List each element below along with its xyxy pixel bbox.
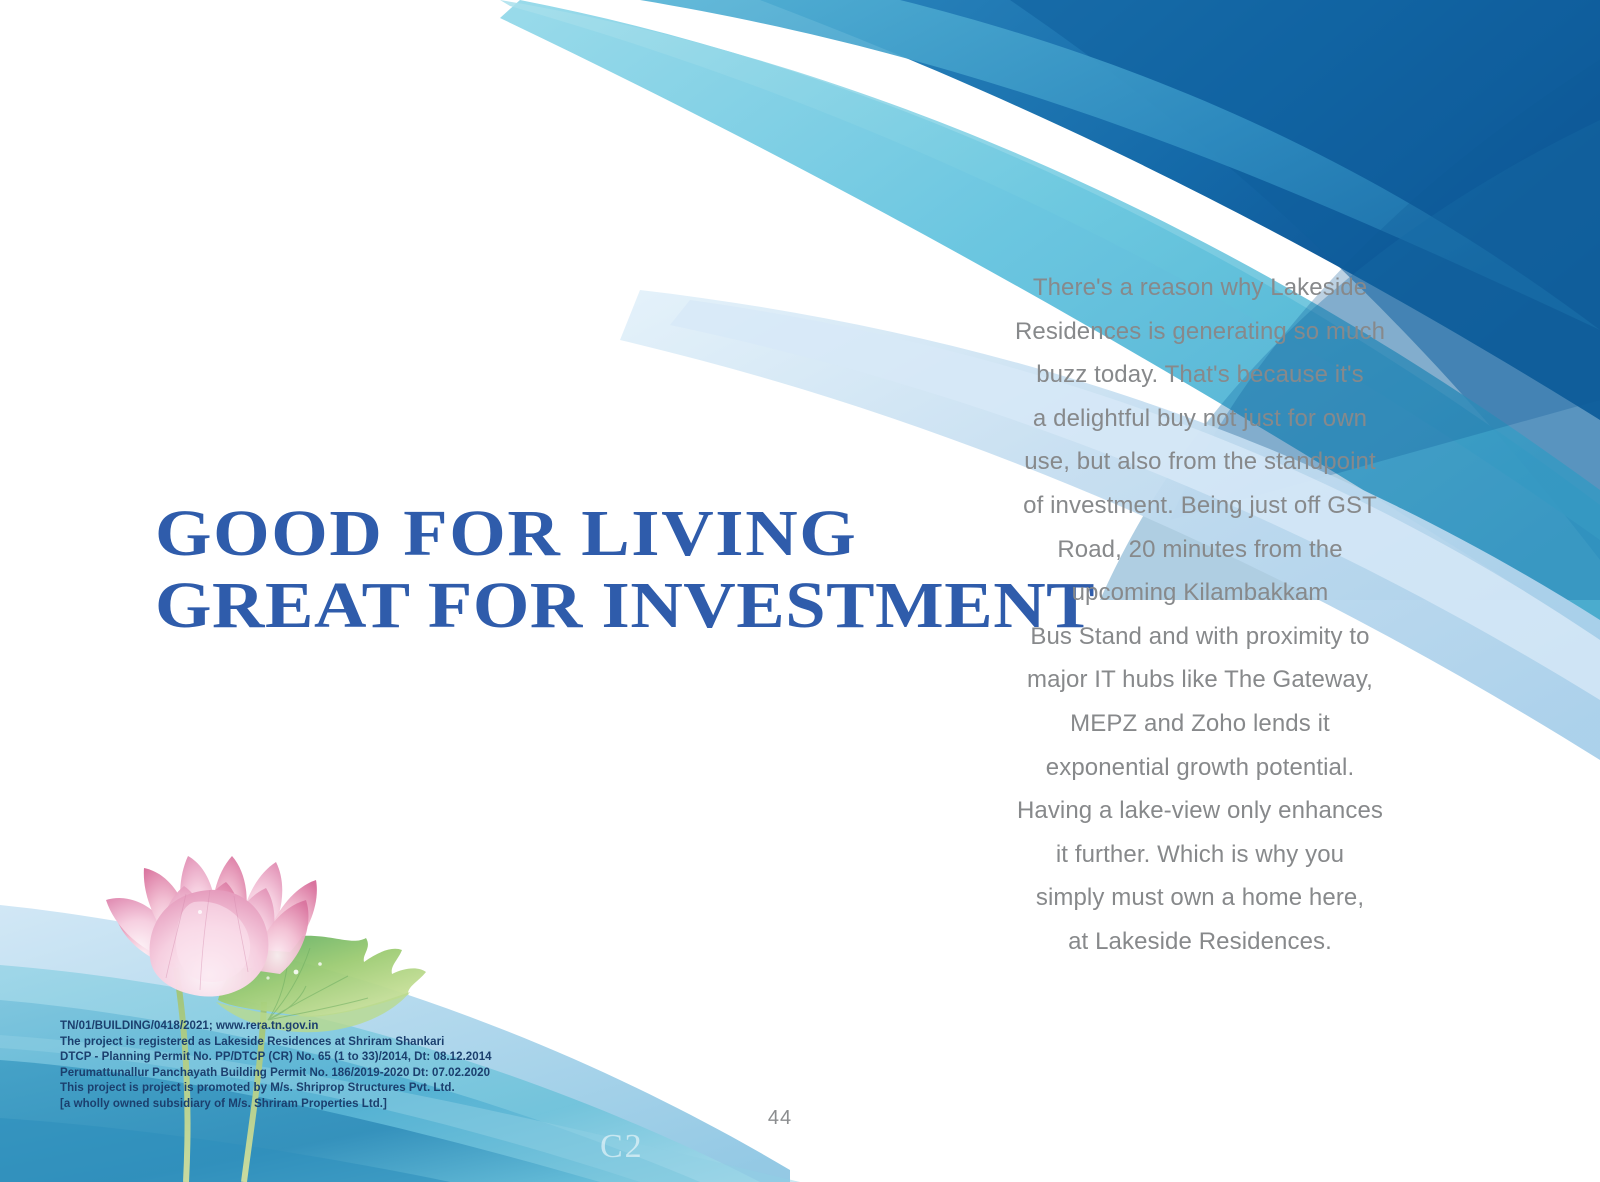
legal-line: This project is project is promoted by M… [60,1081,530,1097]
brochure-page: GOOD FOR LIVING GREAT FOR INVESTMENT The… [0,0,1600,1182]
copy-line: exponential growth potential. [1000,746,1400,790]
legal-disclaimer: TN/01/BUILDING/0418/2021; www.rera.tn.go… [60,1019,530,1113]
copy-line: of investment. Being just off GST [1000,484,1400,528]
copy-line: buzz today. That's because it's [1000,353,1400,397]
copy-line: at Lakeside Residences. [1000,920,1400,964]
copy-line: There's a reason why Lakeside [1000,266,1400,310]
legal-line: TN/01/BUILDING/0418/2021; www.rera.tn.go… [60,1019,530,1035]
copy-line: upcoming Kilambakkam [1000,571,1400,615]
copy-line: it further. Which is why you [1000,833,1400,877]
legal-line: [a wholly owned subsidiary of M/s. Shrir… [60,1097,530,1113]
corner-watermark: C2 [600,1128,644,1166]
copy-line: Road, 20 minutes from the [1000,528,1400,572]
legal-line: The project is registered as Lakeside Re… [60,1035,530,1051]
legal-line: Perumattunallur Panchayath Building Perm… [60,1066,530,1082]
copy-line: Residences is generating so much [1000,310,1400,354]
body-copy: There's a reason why Lakeside Residences… [1000,266,1400,964]
copy-line: simply must own a home here, [1000,876,1400,920]
headline-line-2: GREAT FOR INVESTMENT [155,570,1079,642]
copy-line: Having a lake-view only enhances [1000,789,1400,833]
headline-line-1: GOOD FOR LIVING [155,498,1079,570]
copy-line: MEPZ and Zoho lends it [1000,702,1400,746]
page-title: GOOD FOR LIVING GREAT FOR INVESTMENT [155,498,995,642]
copy-line: use, but also from the standpoint [1000,440,1400,484]
copy-line: Bus Stand and with proximity to [1000,615,1400,659]
page-number: 44 [760,1107,800,1130]
legal-line: DTCP - Planning Permit No. PP/DTCP (CR) … [60,1050,530,1066]
copy-line: a delightful buy not just for own [1000,397,1400,441]
copy-line: major IT hubs like The Gateway, [1000,658,1400,702]
